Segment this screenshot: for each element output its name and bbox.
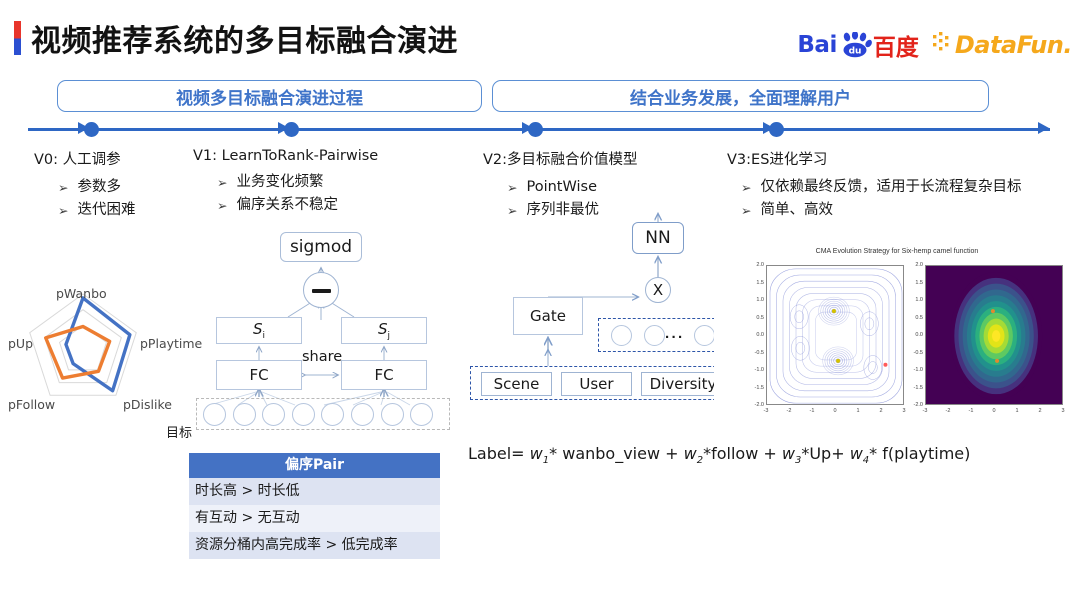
timeline <box>28 120 1050 140</box>
page-title: 视频推荐系统的多目标融合演进 <box>31 16 458 60</box>
cma-plot-title: CMA Evolution Strategy for Six-hemp came… <box>714 248 1080 255</box>
x-tick-label: -2 <box>940 408 956 414</box>
x-tick-label: 2 <box>873 408 889 414</box>
weight-2: w2 <box>684 444 703 463</box>
y-tick-label: 0.5 <box>744 315 764 321</box>
version-block-v0: V0: 人工调参 ➢ 参数多 ➢ 迭代困难 <box>34 148 135 222</box>
marker-optimum-upper <box>832 309 836 313</box>
version-title-v3: V3:ES进化学习 <box>727 148 1021 169</box>
bullet-text: 简单、高效 <box>760 199 833 222</box>
weight-3: w3 <box>782 444 801 463</box>
marker-optimum-lower <box>995 359 999 363</box>
marker-optimum-upper <box>991 309 995 313</box>
chevron-right-icon: ➢ <box>507 176 517 199</box>
version-title-v0: V0: 人工调参 <box>34 148 135 169</box>
radar-axis-label-pup: pUp <box>8 336 33 351</box>
version-bullets-v0: ➢ 参数多 ➢ 迭代困难 <box>34 176 135 222</box>
feature-diversity: Diversity <box>641 372 725 396</box>
nn-label: NN <box>645 228 670 248</box>
contour-ring <box>770 269 902 403</box>
local-min-contour <box>790 305 808 329</box>
baidu-paw-icon: du <box>838 32 872 58</box>
y-tick-label: 1.5 <box>903 280 923 286</box>
x-tick-label: -3 <box>917 408 933 414</box>
chevron-right-icon: ➢ <box>741 176 751 199</box>
y-tick-label: -1.5 <box>903 385 923 391</box>
pairwise-input-layer <box>196 398 450 430</box>
timeline-arrow-end <box>1038 122 1049 134</box>
chevron-right-icon: ➢ <box>217 171 227 194</box>
title-bar: 视频推荐系统的多目标融合演进 <box>14 16 458 60</box>
timeline-dot-v0 <box>84 122 99 137</box>
bullet-item: ➢ 业务变化频繁 <box>217 171 378 194</box>
bullet-text: 迭代困难 <box>77 199 135 222</box>
nn-node: NN <box>632 222 684 254</box>
chevron-right-icon: ➢ <box>741 199 751 222</box>
version-block-v3: V3:ES进化学习 ➢ 仅依赖最终反馈，适用于长流程复杂目标 ➢ 简单、高效 <box>727 148 1021 222</box>
input-circle <box>410 403 433 426</box>
section-pill-business-label: 结合业务发展，全面理解用户 <box>630 84 851 109</box>
radar-axis-label-pfollow: pFollow <box>8 397 55 412</box>
cma-plot: CMA Evolution Strategy for Six-hemp came… <box>714 243 1080 431</box>
cma-distribution-panel <box>925 265 1063 405</box>
bullet-text: PointWise <box>526 176 597 199</box>
radar-axis-label-pdislike: pDislike <box>123 397 172 412</box>
weight-4: w4 <box>850 444 869 463</box>
input-circle <box>203 403 226 426</box>
radar-chart: pWanbo pPlaytime pDislike pFollow pUp <box>0 272 190 422</box>
chevron-right-icon: ➢ <box>217 194 227 217</box>
value-model-edges <box>468 200 738 380</box>
feature-user: User <box>561 372 632 396</box>
label-formula-prefix: Label= <box>468 444 525 463</box>
bullet-item: ➢ PointWise <box>507 176 638 199</box>
input-circle <box>233 403 256 426</box>
feature-group: Scene User Diversity <box>470 366 731 400</box>
bullet-item: ➢ 偏序关系不稳定 <box>217 194 378 217</box>
baidu-logo: Bai du 百度 <box>797 28 918 62</box>
table-row: 有互动 > 无互动 <box>189 505 440 532</box>
y-tick-label: -1.0 <box>903 367 923 373</box>
cma-contour-panel <box>766 265 904 405</box>
datafun-logo: DataFun. <box>933 31 1072 60</box>
x-tick-label: -2 <box>781 408 797 414</box>
bullet-text: 业务变化频繁 <box>236 171 323 194</box>
version-title-v2: V2:多目标融合价值模型 <box>483 148 638 169</box>
marker-optimum-lower <box>836 359 840 363</box>
op: * f(playtime) <box>869 444 970 463</box>
datafun-logo-text: DataFun. <box>955 31 1072 59</box>
y-tick-label: 0.5 <box>903 315 923 321</box>
sigmod-label: sigmod <box>290 237 352 257</box>
input-circle <box>321 403 344 426</box>
y-tick-label: 0.0 <box>744 332 764 338</box>
gate-node: Gate <box>513 297 583 335</box>
y-tick-label: 2.0 <box>903 262 923 268</box>
x-tick-label: -1 <box>963 408 979 414</box>
bullet-text: 仅依赖最终反馈，适用于长流程复杂目标 <box>760 176 1021 199</box>
gate-label: Gate <box>530 307 566 325</box>
datafun-dots-icon <box>933 31 953 60</box>
version-bullets-v1: ➢ 业务变化频繁 ➢ 偏序关系不稳定 <box>193 171 378 217</box>
timeline-dot-v2 <box>528 122 543 137</box>
chevron-right-icon: ➢ <box>58 199 68 222</box>
y-tick-label: -1.0 <box>744 367 764 373</box>
x-tick-label: 0 <box>986 408 1002 414</box>
section-pill-evolution: 视频多目标融合演进过程 <box>57 80 482 112</box>
y-tick-label: 1.0 <box>744 297 764 303</box>
input-circle <box>381 403 404 426</box>
multiply-label: X <box>653 281 663 299</box>
timeline-dot-v3 <box>769 122 784 137</box>
input-circle <box>292 403 315 426</box>
score-i-label: Si <box>253 320 265 341</box>
section-pill-business: 结合业务发展，全面理解用户 <box>492 80 989 112</box>
fc-right-node: FC <box>341 360 427 390</box>
y-tick-label: 0.0 <box>903 332 923 338</box>
x-tick-label: 0 <box>827 408 843 414</box>
y-tick-label: -0.5 <box>903 350 923 356</box>
x-tick-label: 3 <box>1055 408 1071 414</box>
contour-ring <box>783 281 889 391</box>
local-min-contour <box>791 336 809 360</box>
x-tick-label: -1 <box>804 408 820 414</box>
section-pill-evolution-label: 视频多目标融合演进过程 <box>176 84 363 109</box>
x-tick-label: 1 <box>850 408 866 414</box>
input-layer-label: 目标 <box>166 422 192 441</box>
embedding-circle <box>611 325 632 346</box>
ellipsis-label: ··· <box>665 329 685 346</box>
y-tick-label: -1.5 <box>744 385 764 391</box>
y-tick-label: -0.5 <box>744 350 764 356</box>
bullet-item: ➢ 参数多 <box>58 176 135 199</box>
version-block-v1: V1: LearnToRank-Pairwise ➢ 业务变化频繁 ➢ 偏序关系… <box>193 148 378 217</box>
label-formula: Label= w1* wanbo_view + w2*follow + w3*U… <box>468 444 970 466</box>
embedding-circle <box>694 325 715 346</box>
pair-table-header: 偏序Pair <box>189 453 440 478</box>
bullet-text: 参数多 <box>77 176 121 199</box>
input-circle <box>262 403 285 426</box>
table-row: 资源分桶内高完成率 > 低完成率 <box>189 532 440 559</box>
input-circle <box>351 403 374 426</box>
share-label: share <box>302 349 342 365</box>
feature-scene: Scene <box>481 372 552 396</box>
multiply-operator-node: X <box>645 277 671 303</box>
fc-left-label: FC <box>249 366 268 384</box>
weight-1: w1 <box>530 444 549 463</box>
version-bullets-v3: ➢ 仅依赖最终反馈，适用于长流程复杂目标 ➢ 简单、高效 <box>727 176 1021 222</box>
chevron-right-icon: ➢ <box>58 176 68 199</box>
sigmod-node: sigmod <box>280 232 362 262</box>
op: *Up+ <box>801 444 849 463</box>
radar-axis-label-pwanbo: pWanbo <box>56 286 107 301</box>
pair-table: 偏序Pair 时长高 > 时长低 有互动 > 无互动 资源分桶内高完成率 > 低… <box>189 453 440 559</box>
x-tick-label: 3 <box>896 408 912 414</box>
title-accent-bar <box>14 21 21 55</box>
fc-right-label: FC <box>374 366 393 384</box>
local-min-contour <box>796 342 805 354</box>
bullet-item: ➢ 迭代困难 <box>58 199 135 222</box>
score-i-node: Si <box>216 317 302 344</box>
baidu-logo-han: 百度 <box>873 28 919 62</box>
op: *follow + <box>703 444 782 463</box>
baidu-logo-du: du <box>848 46 861 56</box>
version-title-v1: V1: LearnToRank-Pairwise <box>193 148 378 164</box>
x-tick-label: 1 <box>1009 408 1025 414</box>
density-band <box>992 330 1000 342</box>
table-row: 时长高 > 时长低 <box>189 478 440 505</box>
score-j-label: Sj <box>378 320 390 341</box>
baidu-logo-bai: Bai <box>797 32 836 58</box>
bullet-item: ➢ 仅依赖最终反馈，适用于长流程复杂目标 <box>741 176 1021 199</box>
cma-contour-svg <box>767 266 904 405</box>
marker-current-mean <box>883 363 887 367</box>
logo-area: Bai du 百度 DataFun. <box>797 28 1072 62</box>
fc-left-node: FC <box>216 360 302 390</box>
local-min-contour <box>868 362 877 374</box>
y-tick-label: 2.0 <box>744 262 764 268</box>
cma-distribution-svg <box>926 266 1063 405</box>
embedding-circle <box>644 325 665 346</box>
x-tick-label: 2 <box>1032 408 1048 414</box>
y-tick-label: 1.5 <box>744 280 764 286</box>
op: * wanbo_view + <box>549 444 683 463</box>
score-j-node: Sj <box>341 317 427 344</box>
minus-operator-node <box>303 272 339 308</box>
timeline-dot-v1 <box>284 122 299 137</box>
y-tick-label: 1.0 <box>903 297 923 303</box>
bullet-item: ➢ 简单、高效 <box>741 199 1021 222</box>
x-tick-label: -3 <box>758 408 774 414</box>
bullet-text: 偏序关系不稳定 <box>236 194 338 217</box>
embedding-group: ··· <box>598 318 725 352</box>
